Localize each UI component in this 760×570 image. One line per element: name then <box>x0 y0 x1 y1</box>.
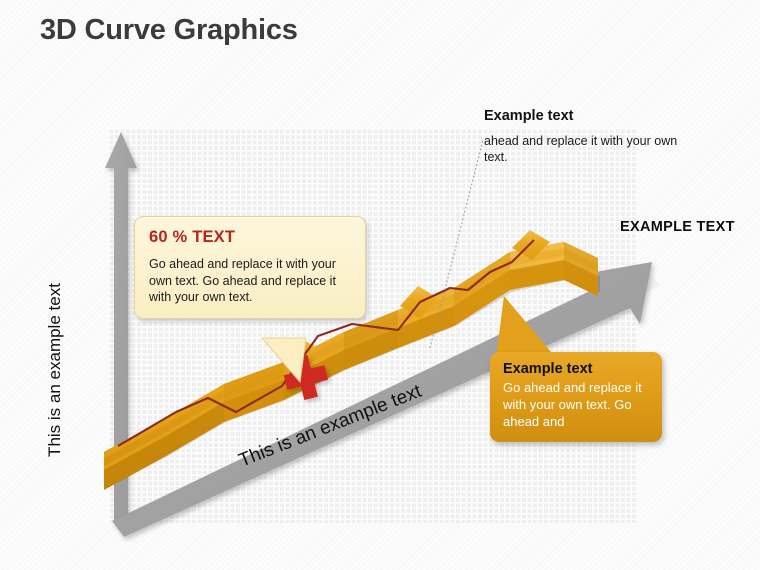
top-right-note-body: ahead and replace it with your own text. <box>484 133 699 165</box>
callout-cream-body: Go ahead and replace it with your own te… <box>149 256 352 306</box>
chart-graphics <box>0 0 760 570</box>
top-right-note: Example text ahead and replace it with y… <box>484 108 699 165</box>
callout-orange[interactable]: Example text Go ahead and replace it wit… <box>490 352 662 442</box>
top-right-note-heading: Example text <box>484 108 699 124</box>
callout-orange-body: Go ahead and replace it with your own te… <box>503 379 649 430</box>
y-axis-label: This is an example text <box>45 245 65 495</box>
callout-cream[interactable]: 60 % TEXT Go ahead and replace it with y… <box>134 216 366 319</box>
slide-canvas: 3D Curve Graphics <box>0 0 760 570</box>
right-axis-label: EXAMPLE TEXT <box>620 219 735 235</box>
callout-cream-heading: 60 % TEXT <box>149 228 352 247</box>
callout-orange-heading: Example text <box>503 361 649 377</box>
